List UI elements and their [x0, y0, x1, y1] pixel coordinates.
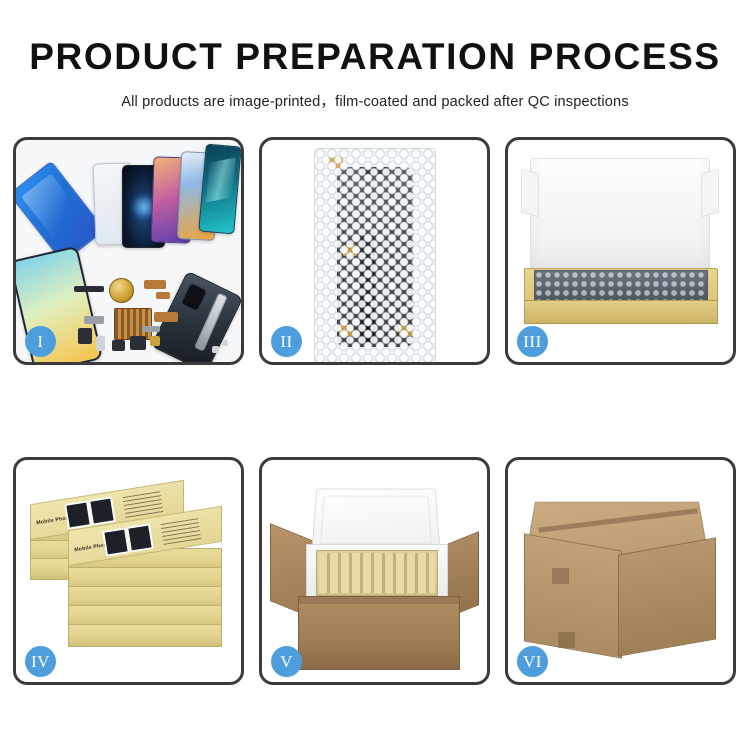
foam-cooler-lid: [311, 489, 440, 553]
bubble-texture-icon: [315, 149, 435, 362]
part-flex-3: [154, 312, 178, 322]
carton-body: [298, 596, 460, 670]
kraft-box-front-wall: [524, 300, 718, 324]
retail-box-layer-8: [68, 624, 222, 647]
phone-display-teal-icon: [198, 144, 241, 235]
retail-box-window-1b: [88, 496, 116, 525]
part-vibrator: [112, 340, 125, 351]
process-step-panel-3[interactable]: III: [505, 137, 736, 365]
process-step-panel-5[interactable]: V: [259, 457, 490, 685]
part-ribbon-1: [74, 286, 104, 292]
step-badge-5: V: [271, 646, 302, 677]
retail-box-window-1a: [64, 500, 92, 529]
step-badge-1: I: [25, 326, 56, 357]
process-step-panel-1[interactable]: I: [13, 137, 244, 365]
process-step-panel-2[interactable]: II: [259, 137, 490, 365]
part-bracket-1: [84, 316, 104, 324]
process-step-panel-4[interactable]: Mobile Phone Spare Parts Mobile Phone Sp…: [13, 457, 244, 685]
page-subtitle: All products are image-printed，film-coat…: [0, 90, 750, 111]
speaker-module-icon: [109, 278, 134, 303]
shipping-carton-tab-upper: [552, 568, 569, 584]
retail-box-window-2a: [102, 527, 130, 556]
white-box-lid: [530, 158, 710, 278]
part-screw-2: [222, 340, 228, 346]
retail-box-window-2b: [126, 523, 154, 552]
process-step-panel-6[interactable]: VI: [505, 457, 736, 685]
yellow-boxes-stack-icon: [319, 553, 435, 593]
shipping-carton-right-face: [618, 537, 716, 656]
part-camera-1: [78, 328, 92, 344]
step-badge-2: II: [271, 326, 302, 357]
page-title: PRODUCT PREPARATION PROCESS: [0, 38, 750, 77]
part-flex-2: [156, 292, 170, 299]
phone-back-cover-blue-icon: [16, 161, 105, 264]
step-badge-4: IV: [25, 646, 56, 677]
foam-cooler-contents: [316, 550, 438, 596]
part-sim-tray: [150, 336, 160, 346]
part-battery-connector: [96, 336, 105, 351]
part-flex-1: [144, 280, 166, 289]
page-header: PRODUCT PREPARATION PROCESS All products…: [0, 0, 750, 111]
bubble-wrapped-units: [534, 270, 708, 304]
part-speaker: [130, 336, 146, 350]
shipping-carton-tab-lower: [558, 632, 575, 648]
bubble-wrap-bag: [314, 148, 436, 362]
step-badge-3: III: [517, 326, 548, 357]
step-badge-6: VI: [517, 646, 548, 677]
process-step-grid: I II III: [13, 137, 737, 685]
part-screw-1: [212, 346, 219, 353]
part-shield-1: [142, 326, 160, 332]
